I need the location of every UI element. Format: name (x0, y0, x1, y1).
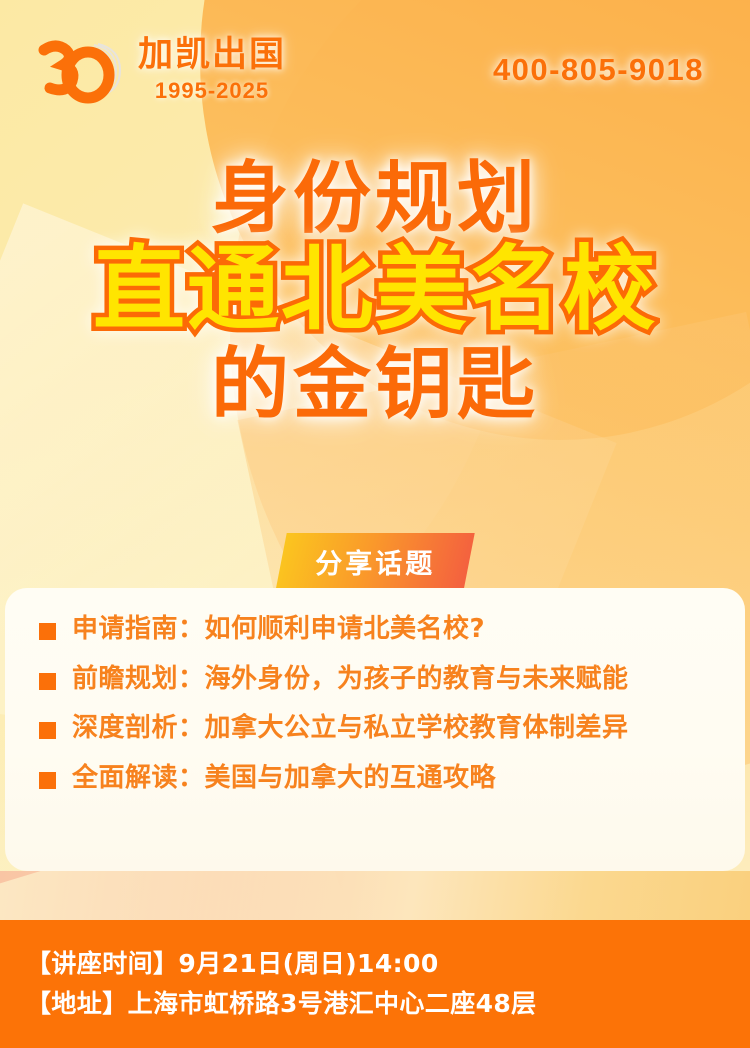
square-bullet-icon (39, 673, 56, 690)
square-bullet-icon (39, 772, 56, 789)
square-bullet-icon (39, 722, 56, 739)
list-item: 前瞻规划：海外身份，为孩子的教育与未来赋能 (39, 664, 725, 696)
topic-text: 深度剖析：加拿大公立与私立学校教育体制差异 (72, 713, 629, 745)
event-address-line: 【地址】上海市虹桥路3号港汇中心二座48层 (26, 984, 750, 1025)
brand-text-stack: 加凯出国 1995-2025 (138, 38, 286, 102)
share-topic-badge-label: 分享话题 (315, 542, 435, 581)
list-item: 全面解读：美国与加拿大的互通攻略 (39, 763, 725, 795)
share-topic-badge: 分享话题 (275, 533, 474, 592)
anniversary-30-icon (28, 33, 124, 107)
list-item: 深度剖析：加拿大公立与私立学校教育体制差异 (39, 713, 725, 745)
contact-phone-number[interactable]: 400-805-9018 (493, 52, 722, 88)
share-topic-badge-wrap: 分享话题 (0, 533, 750, 592)
brand-logo: 加凯出国 1995-2025 (28, 33, 286, 107)
promo-poster: 加凯出国 1995-2025 400-805-9018 身份规划 直通北美名校 … (0, 0, 750, 1048)
poster-footer: 【讲座时间】9月21日(周日)14:00 【地址】上海市虹桥路3号港汇中心二座4… (0, 920, 750, 1048)
list-item: 申请指南：如何顺利申请北美名校? (39, 614, 725, 646)
topic-text: 申请指南：如何顺利申请北美名校? (72, 614, 485, 646)
title-line-2: 直通北美名校 (0, 244, 750, 336)
topics-panel: 申请指南：如何顺利申请北美名校? 前瞻规划：海外身份，为孩子的教育与未来赋能 深… (5, 588, 745, 871)
topic-text: 全面解读：美国与加拿大的互通攻略 (72, 763, 496, 795)
transition-band (0, 871, 750, 920)
square-bullet-icon (39, 623, 56, 640)
anniversary-years: 1995-2025 (155, 80, 269, 102)
event-time-line: 【讲座时间】9月21日(周日)14:00 (26, 944, 750, 985)
poster-header: 加凯出国 1995-2025 400-805-9018 (0, 0, 750, 140)
brand-name: 加凯出国 (138, 38, 286, 73)
title-line-1: 身份规划 (0, 160, 750, 238)
hero-title-block: 身份规划 直通北美名校 的金钥匙 (0, 160, 750, 424)
topic-text: 前瞻规划：海外身份，为孩子的教育与未来赋能 (72, 664, 629, 696)
topic-list: 申请指南：如何顺利申请北美名校? 前瞻规划：海外身份，为孩子的教育与未来赋能 深… (39, 614, 725, 795)
title-line-3: 的金钥匙 (0, 346, 750, 424)
transition-band-wedge (0, 871, 354, 920)
